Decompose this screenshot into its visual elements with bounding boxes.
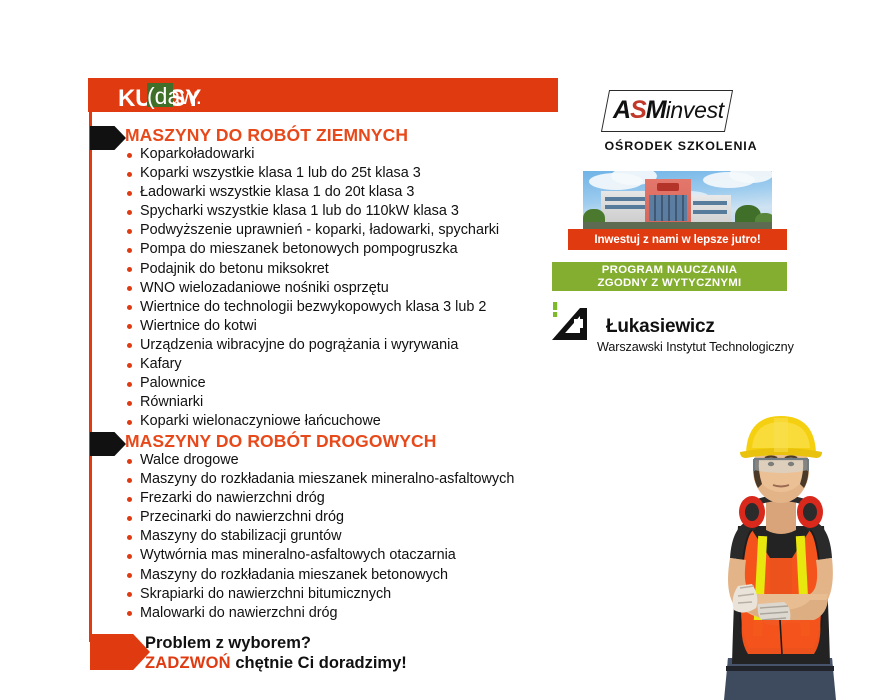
list-item: Przecinarki do nawierzchni dróg [125, 508, 514, 527]
list-item: Urządzenia wibracyjne do pogrążania i wy… [125, 336, 499, 355]
photo-building-glass [649, 195, 687, 221]
page-title-bold: KURSY WIT [118, 85, 140, 105]
list-item: Wiertnice do technologii bezwykopowych k… [125, 298, 499, 317]
cta-advice-text: chętnie Ci doradzimy! [235, 654, 406, 672]
photo-window [605, 205, 645, 209]
list-item: Spycharki wszystkie klasa 1 lub do 110kW… [125, 202, 499, 221]
list-item: Podajnik do betonu miksokret [125, 260, 499, 279]
asm-letter-a: A [613, 96, 630, 124]
lukasiewicz-logo: Łukasiewicz Warszawski Instytut Technolo… [550, 302, 795, 360]
cta-arrow-icon [90, 634, 150, 670]
construction-worker-photo [690, 408, 871, 700]
program-banner-line2: ZGODNY Z WYTYCZNYMI [597, 277, 741, 290]
list-item: Ładowarki wszystkie klasa 1 do 20t klasa… [125, 183, 499, 202]
list-item: Kafary [125, 355, 499, 374]
list-item: WNO wielozadaniowe nośniki osprzętu [125, 279, 499, 298]
list-item: Koparki wszystkie klasa 1 lub do 25t kla… [125, 164, 499, 183]
page-title-light: (daw. IMBiGS) [147, 83, 173, 107]
section-marker-roadworks [90, 432, 126, 456]
list-item: Podwyższenie uprawnień - koparki, ładowa… [125, 221, 499, 240]
machine-list-roadworks: Walce drogoweMaszyny do rozkładania mies… [125, 451, 514, 623]
program-banner: PROGRAM NAUCZANIA ZGODNY Z WYTYCZNYMI [552, 262, 787, 291]
list-item: Maszyny do rozkładania mieszanek betonow… [125, 566, 514, 585]
poster-root: KURSY WIT (daw. IMBiGS) MASZYNY DO ROBÓT… [0, 0, 871, 700]
asm-logo-subtitle: OŚRODEK SZKOLENIA [591, 139, 771, 153]
photo-ground [583, 222, 772, 229]
section-heading-earthworks: MASZYNY DO ROBÓT ZIEMNYCH [125, 125, 408, 146]
asm-invest-logo: ASMinvest [605, 90, 755, 136]
cta-block: Problem z wyborem? ZADZWOŃ chętnie Ci do… [145, 633, 407, 674]
list-item: Malowarki do nawierzchni dróg [125, 604, 514, 623]
left-vertical-rule [89, 112, 92, 642]
cta-call-word: ZADZWOŃ [145, 654, 231, 672]
list-item: Koparki wielonaczyniowe łańcuchowe [125, 412, 499, 431]
asm-word-invest: invest [666, 97, 724, 123]
photo-window [693, 210, 727, 214]
cta-question: Problem z wyborem? [145, 633, 407, 653]
list-item: Skrapiarki do nawierzchni bitumicznych [125, 585, 514, 604]
list-item: Pompa do mieszanek betonowych pompogrusz… [125, 240, 499, 259]
lukasiewicz-subtitle: Warszawski Instytut Technologiczny [597, 340, 794, 354]
list-item: Walce drogowe [125, 451, 514, 470]
photo-window [693, 201, 727, 205]
photo-window [605, 197, 645, 201]
cta-action: ZADZWOŃ chętnie Ci doradzimy! [145, 653, 407, 674]
list-item: Równiarki [125, 393, 499, 412]
list-item: Maszyny do rozkładania mieszanek mineral… [125, 470, 514, 489]
building-photo [583, 171, 772, 229]
list-item: Palownice [125, 374, 499, 393]
photo-caption-banner: Inwestuj z nami w lepsze jutro! [568, 229, 787, 250]
program-banner-line1: PROGRAM NAUCZANIA [602, 264, 737, 277]
list-item: Wytwórnia mas mineralno-asfaltowych otac… [125, 546, 514, 565]
asm-letter-s: S [630, 96, 646, 124]
list-item: Maszyny do stabilizacji gruntów [125, 527, 514, 546]
lukasiewicz-name: Łukasiewicz [606, 316, 715, 338]
section-heading-roadworks: MASZYNY DO ROBÓT DROGOWYCH [125, 431, 436, 452]
list-item: Koparkoładowarki [125, 145, 499, 164]
photo-building-sign [657, 183, 679, 191]
asm-letter-m: M [646, 96, 666, 124]
asm-logo-text: ASMinvest [613, 96, 724, 124]
photo-caption-text: Inwestuj z nami w lepsze jutro! [594, 233, 760, 246]
list-item: Wiertnice do kotwi [125, 317, 499, 336]
machine-list-earthworks: KoparkoładowarkiKoparki wszystkie klasa … [125, 145, 499, 431]
list-item: Frezarki do nawierzchni dróg [125, 489, 514, 508]
lukasiewicz-mark-icon [550, 302, 598, 348]
header-title-bar: KURSY WIT (daw. IMBiGS) [88, 78, 558, 112]
